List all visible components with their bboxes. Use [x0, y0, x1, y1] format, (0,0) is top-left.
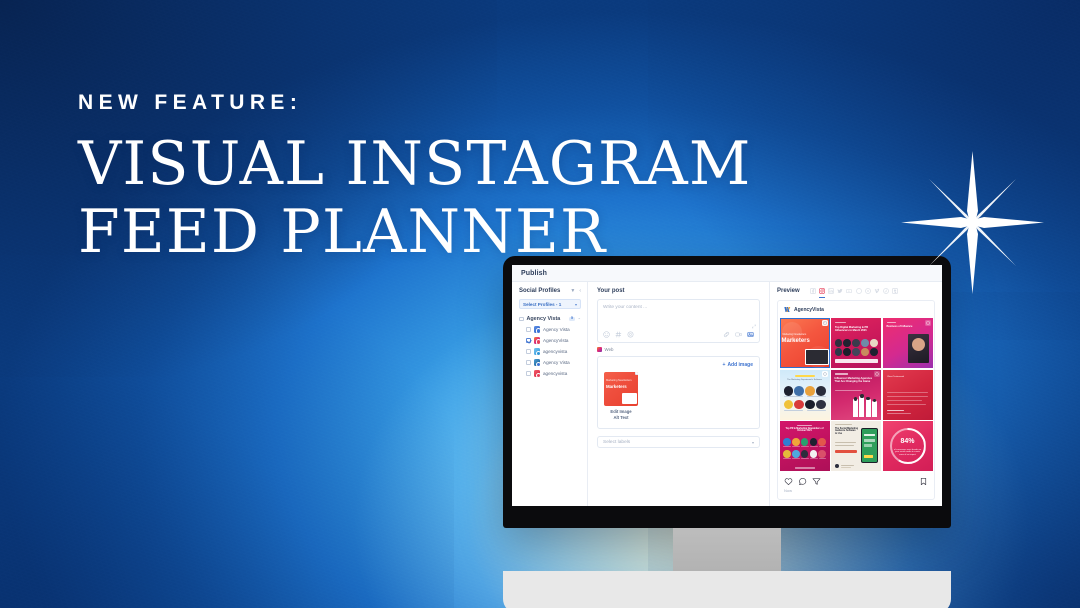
- app-title: Publish: [521, 270, 547, 277]
- tile-8-headline: The Social Marketing Audience Software t…: [835, 428, 858, 437]
- chevron-down-icon: ▾: [575, 302, 577, 307]
- profile-row-4[interactable]: Agency Vista: [526, 359, 581, 366]
- app-body: Social Profiles ▼ ‹ Select Profiles - 1 …: [512, 282, 942, 506]
- grid-tile-7[interactable]: Top PR & Marketing Newsletters of Octobe…: [780, 421, 830, 471]
- profile-checkbox-1[interactable]: [526, 327, 531, 332]
- select-profiles-button[interactable]: Select Profiles - 1 ▾: [519, 299, 581, 309]
- chevron-down-icon: ▾: [752, 440, 754, 445]
- google-icon[interactable]: [865, 288, 871, 294]
- monitor-screen: Publish Social Profiles ▼ ‹: [512, 265, 942, 506]
- poster-headline: NEW FEATURE: VISUAL INSTAGRAM FEED PLANN…: [78, 92, 752, 262]
- twitter-avatar-icon: [534, 348, 541, 355]
- share-icon[interactable]: [812, 477, 821, 486]
- attached-network-tag: Web: [597, 347, 760, 352]
- profile-row-2[interactable]: AgencyVista: [526, 337, 581, 344]
- profile-name-4: Agency Vista: [543, 360, 570, 365]
- your-post-heading: Your post: [597, 288, 760, 294]
- close-icon[interactable]: ×: [635, 372, 638, 375]
- facebook-avatar-icon: [534, 326, 541, 333]
- social-profiles-panel: Social Profiles ▼ ‹ Select Profiles - 1 …: [512, 282, 588, 506]
- facebook-icon[interactable]: [810, 288, 816, 294]
- instagram-preview-card: AgencyVista Marketing Newsletters Market…: [777, 300, 935, 500]
- instagram-account-header: AgencyVista: [778, 301, 934, 318]
- instagram-tag-icon: [597, 347, 602, 352]
- page-title-line-2: FEED PLANNER: [78, 203, 752, 262]
- social-profiles-heading: Social Profiles: [519, 288, 560, 294]
- tile-3-headline: Business of Influence: [887, 325, 928, 328]
- vimeo-icon[interactable]: [874, 288, 880, 294]
- publish-app: Publish Social Profiles ▼ ‹: [512, 265, 942, 506]
- plus-icon: +: [723, 362, 726, 368]
- tile-5-headline: Influencer Marketing Agencies That Are C…: [835, 377, 875, 384]
- bookmark-icon[interactable]: [919, 477, 928, 486]
- profile-checkbox-3[interactable]: [526, 349, 531, 354]
- instagram-action-bar: [778, 471, 934, 488]
- linkedin-icon[interactable]: [828, 288, 834, 294]
- instagram-feed-grid: Marketing Newsletters Marketers Top Digi…: [778, 318, 934, 471]
- tile-7-headline: Top PR & Marketing Newsletters of Octobe…: [784, 428, 826, 434]
- page-title-line-1: VISUAL INSTAGRAM: [78, 135, 752, 194]
- media-attachments-box: + Add image Marketing Newsletters Market…: [597, 356, 760, 429]
- profile-checkbox-2[interactable]: [526, 338, 531, 343]
- grid-tile-5[interactable]: Influencer Marketing Agencies That Are C…: [831, 370, 881, 420]
- image-icon[interactable]: [747, 331, 754, 338]
- tile-1-kicker: Marketing Newsletters: [783, 333, 807, 336]
- tile-1-badge-icon: [822, 320, 828, 326]
- video-icon[interactable]: [735, 331, 742, 338]
- post-composer[interactable]: Write your content ...: [597, 299, 760, 343]
- grid-tile-9[interactable]: 84% of consumers want brands on your soc…: [883, 421, 933, 471]
- resize-grip-icon[interactable]: ⤢: [752, 324, 756, 330]
- instagram-icon[interactable]: [819, 288, 825, 294]
- tile-1-headline: Marketers: [782, 338, 810, 344]
- grid-tile-6[interactable]: Client Testimonial: [883, 370, 933, 420]
- tiktok-icon[interactable]: [883, 288, 889, 294]
- grid-tile-4[interactable]: The Marketing Department's Software: [780, 370, 830, 420]
- tile-6-headline: Client Testimonial: [887, 376, 928, 379]
- agency-vista-logo-icon: [784, 306, 791, 313]
- monitor-base: [503, 571, 951, 608]
- select-labels-placeholder: Select labels: [603, 440, 630, 445]
- tile-3-badge-icon: [925, 320, 931, 326]
- profile-group-name: Agency Vista: [527, 316, 567, 322]
- thumbnail-actions[interactable]: Edit Image Alt Text: [604, 409, 638, 421]
- preview-heading: Preview: [777, 288, 800, 294]
- pinterest-avatar-icon: [534, 370, 541, 377]
- profile-name-1: Agency Vista: [543, 327, 570, 332]
- composer-toolbar: [603, 331, 754, 338]
- your-post-panel: Your post Write your content ...: [588, 282, 770, 506]
- grid-tile-1[interactable]: Marketing Newsletters Marketers: [780, 318, 830, 368]
- filter-icon[interactable]: ▼: [570, 289, 575, 294]
- four-point-sparkle-icon: [895, 145, 1050, 300]
- chevron-left-icon[interactable]: ‹: [579, 289, 581, 294]
- chevron-up-icon[interactable]: ⌃: [578, 317, 581, 322]
- profile-group-row[interactable]: Agency Vista 5 ⌃: [519, 316, 581, 322]
- tile-9-stat: 84%: [883, 438, 933, 445]
- profile-name-3: agencyvista: [543, 349, 567, 354]
- thumbnail-headline: Marketers: [606, 384, 627, 389]
- profile-row-1[interactable]: Agency Vista: [526, 326, 581, 333]
- select-profiles-label: Select Profiles - 1: [523, 302, 561, 307]
- profile-name-2: AgencyVista: [543, 338, 568, 343]
- thumbnail-kicker: Marketing Newsletters: [606, 379, 632, 382]
- profile-name-5: agencyvista: [543, 371, 567, 376]
- monitor-mockup: Publish Social Profiles ▼ ‹: [503, 256, 951, 608]
- eyebrow-text: NEW FEATURE:: [78, 92, 752, 113]
- profile-group-checkbox[interactable]: [519, 317, 524, 322]
- linkedin-avatar-icon: [534, 359, 541, 366]
- grid-tile-2[interactable]: Top Digital Marketing & PR Influencers i…: [831, 318, 881, 368]
- preview-network-tabs: [810, 288, 899, 294]
- add-image-label: Add image: [727, 362, 753, 368]
- thumbnail-laptop-art: [622, 393, 637, 404]
- hashtag-icon[interactable]: [615, 331, 622, 338]
- monitor-neck: [673, 528, 781, 572]
- settings-icon[interactable]: [627, 331, 634, 338]
- comment-icon[interactable]: [798, 477, 807, 486]
- preview-panel: Preview: [770, 282, 942, 506]
- attached-image[interactable]: Marketing Newsletters Marketers × Edit I…: [604, 372, 638, 421]
- composer-placeholder: Write your content ...: [603, 305, 754, 310]
- tile-4-headline: The Marketing Department's Software: [784, 379, 826, 382]
- select-labels-dropdown[interactable]: Select labels ▾: [597, 436, 760, 448]
- emoji-icon[interactable]: [603, 331, 610, 338]
- alt-text-label[interactable]: Alt Text: [604, 415, 638, 421]
- link-icon[interactable]: [723, 331, 730, 338]
- grid-tile-8[interactable]: The Social Marketing Audience Software t…: [831, 421, 881, 471]
- profile-row-5[interactable]: agencyvista: [526, 370, 581, 377]
- twitter-icon[interactable]: [837, 288, 843, 294]
- monitor-bezel: Publish Social Profiles ▼ ‹: [503, 256, 951, 528]
- grid-tile-3[interactable]: Business of Influence: [883, 318, 933, 368]
- youtube-icon[interactable]: [846, 288, 852, 294]
- tile-4-badge-icon: [822, 371, 828, 377]
- profile-row-3[interactable]: agencyvista: [526, 348, 581, 355]
- tile-9-headline: of consumers want brands on your social …: [893, 449, 923, 458]
- heart-icon[interactable]: [784, 477, 793, 486]
- profile-checkbox-5[interactable]: [526, 371, 531, 376]
- social-profiles-header: Social Profiles ▼ ‹: [519, 288, 581, 294]
- pinterest-icon[interactable]: [856, 288, 862, 294]
- tile-5-badge-icon: [874, 371, 880, 377]
- add-image-button[interactable]: + Add image: [723, 362, 753, 368]
- instagram-avatar-icon: [534, 337, 541, 344]
- app-topbar: Publish: [512, 265, 942, 282]
- profile-checkbox-4[interactable]: [526, 360, 531, 365]
- post-timestamp: Now: [778, 488, 934, 499]
- tile-2-headline: Top Digital Marketing & PR Influencers i…: [835, 326, 877, 333]
- attached-network-label: Web: [605, 347, 614, 352]
- instagram-account-name: AgencyVista: [794, 307, 824, 313]
- attached-image-thumbnail[interactable]: Marketing Newsletters Marketers ×: [604, 372, 638, 406]
- profile-group-badge: 5: [569, 317, 574, 322]
